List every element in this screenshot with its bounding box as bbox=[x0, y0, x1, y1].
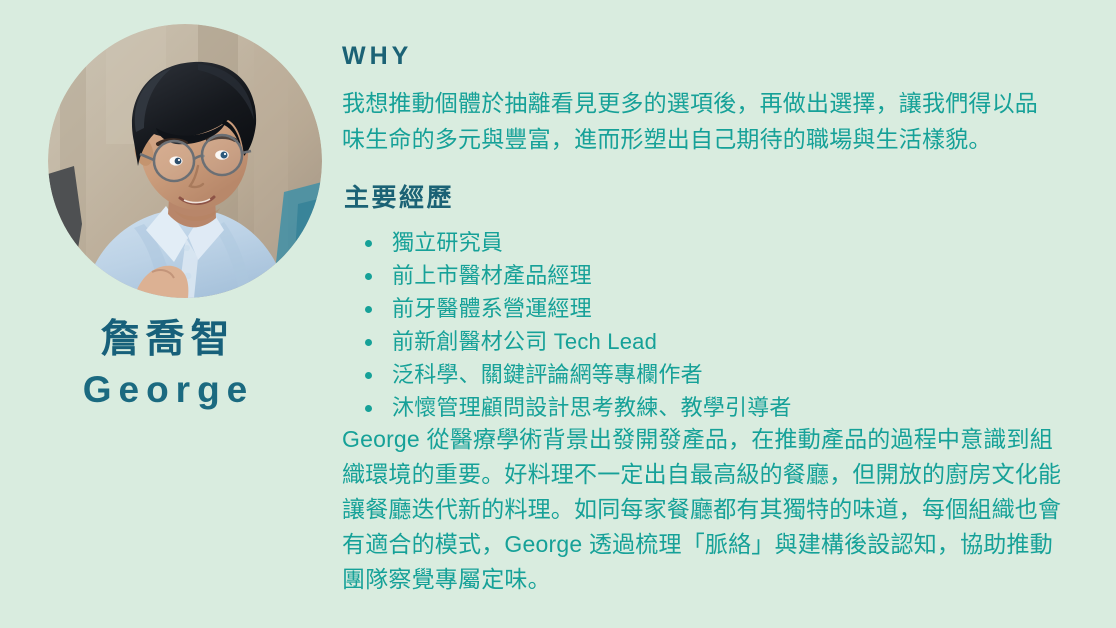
avatar bbox=[48, 24, 322, 298]
profile-right-column: WHY 我想推動個體於抽離看見更多的選項後，再做出選擇，讓我們得以品味生命的多元… bbox=[342, 0, 1082, 628]
experience-list: 獨立研究員 前上市醫材產品經理 前牙醫體系營運經理 前新創醫材公司 Tech L… bbox=[360, 226, 1060, 424]
why-heading: WHY bbox=[342, 42, 412, 71]
list-item: 獨立研究員 bbox=[360, 226, 1060, 259]
list-item: 沐懷管理顧問設計思考教練、教學引導者 bbox=[360, 391, 1060, 424]
list-item: 泛科學、關鍵評論網等專欄作者 bbox=[360, 358, 1060, 391]
list-item: 前牙醫體系營運經理 bbox=[360, 292, 1060, 325]
list-item: 前上市醫材產品經理 bbox=[360, 259, 1060, 292]
name-block: 詹喬智 George bbox=[0, 316, 330, 415]
profile-left-column: 詹喬智 George bbox=[0, 0, 330, 628]
list-item: 前新創醫材公司 Tech Lead bbox=[360, 325, 1060, 358]
profile-slide: 詹喬智 George WHY 我想推動個體於抽離看見更多的選項後，再做出選擇，讓… bbox=[0, 0, 1116, 628]
why-paragraph: 我想推動個體於抽離看見更多的選項後，再做出選擇，讓我們得以品味生命的多元與豐富，… bbox=[342, 85, 1058, 157]
name-english: George bbox=[7, 365, 330, 415]
name-chinese: 詹喬智 bbox=[6, 316, 330, 365]
experience-heading: 主要經歷 bbox=[344, 178, 454, 214]
portrait-photo-icon bbox=[48, 24, 322, 298]
bio-paragraph: George 從醫療學術背景出發開發產品，在推動產品的過程中意識到組織環境的重要… bbox=[342, 422, 1062, 597]
